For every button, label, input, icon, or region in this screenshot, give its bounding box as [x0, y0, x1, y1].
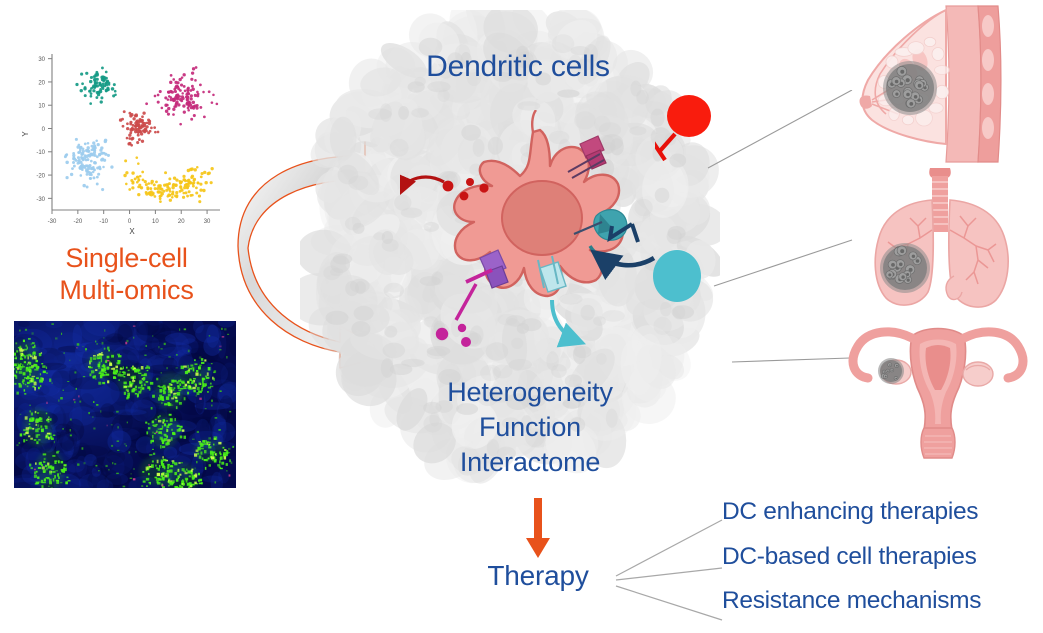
ovary-tumor	[878, 358, 904, 384]
uterus-with-tumor-illustration	[838, 322, 1038, 462]
lung-tumor	[880, 243, 930, 293]
lung-svg	[846, 168, 1038, 323]
svg-text:30: 30	[204, 219, 211, 225]
svg-text:-20: -20	[36, 173, 45, 179]
cell-nucleus	[502, 181, 582, 255]
scatter-series-cluster-yellow	[123, 156, 213, 203]
therapy-outcomes-list: DC enhancing therapies DC-based cell the…	[722, 500, 1042, 614]
connector-lung	[714, 240, 852, 286]
caption-line-2: Multi-omics	[14, 275, 239, 307]
svg-text:10: 10	[38, 104, 45, 110]
lung-with-tumor-illustration	[846, 168, 1038, 323]
connector-outcome-1	[616, 520, 722, 576]
svg-text:20: 20	[38, 80, 45, 86]
connector-uterus	[732, 358, 850, 362]
cyan-immune-cell	[653, 250, 701, 302]
dendrite-top	[532, 110, 536, 132]
svg-text:-30: -30	[48, 219, 57, 225]
therapy-label: Therapy	[463, 560, 613, 592]
term-heterogeneity: Heterogeneity	[400, 375, 660, 410]
fluorescence-svg	[14, 321, 236, 488]
connector-outcome-3	[616, 586, 722, 620]
single-cell-scatter-plot: -30-20-100102030 -30-20-100102030 X Y	[14, 48, 236, 243]
breast-tumor	[883, 61, 937, 115]
scatter-series-cluster-teal	[75, 67, 116, 105]
connector-breast	[708, 90, 852, 168]
breast-svg	[846, 4, 1038, 164]
y-axis-ticks: -30-20-100102030	[36, 57, 52, 203]
svg-text:30: 30	[38, 57, 45, 63]
therapy-outcome-1: DC enhancing therapies	[722, 500, 1042, 525]
caption-line-1: Single-cell	[14, 243, 239, 275]
graphical-abstract-figure: -30-20-100102030 -30-20-100102030 X Y Si…	[0, 0, 1043, 629]
therapy-arrow-shape	[526, 498, 550, 558]
dendritic-cells-label: Dendritic cells	[368, 50, 668, 84]
scatter-series-cluster-lightblue	[64, 138, 114, 191]
svg-text:10: 10	[152, 219, 159, 225]
x-axis-title: X	[129, 227, 135, 236]
scatter-series-cluster-red	[119, 110, 159, 146]
svg-text:20: 20	[178, 219, 185, 225]
red-inhibition-bar	[655, 134, 675, 160]
term-interactome: Interactome	[400, 445, 660, 480]
y-axis-title: Y	[21, 131, 30, 137]
fluorescence-microscopy-image	[14, 321, 236, 488]
chest-wall	[946, 6, 981, 162]
therapy-down-arrow	[523, 498, 553, 560]
svg-text:0: 0	[128, 219, 132, 225]
scatter-plot-svg: -30-20-100102030 -30-20-100102030 X Y	[14, 48, 236, 243]
svg-text:-30: -30	[36, 197, 45, 203]
magenta-secretion-group	[436, 270, 492, 347]
term-function: Function	[400, 410, 660, 445]
trachea-rings	[932, 182, 948, 224]
central-terms-list: Heterogeneity Function Interactome	[400, 375, 660, 480]
nipple	[859, 95, 872, 108]
therapy-outcome-2: DC-based cell therapies	[722, 545, 1042, 570]
scatter-series-cluster-magenta	[145, 66, 218, 125]
cyan-secretion-arrow	[552, 300, 580, 342]
breast-with-tumor-illustration	[846, 4, 1038, 164]
single-cell-multiomics-caption: Single-cell Multi-omics	[14, 243, 239, 307]
therapy-arrow-svg	[523, 498, 553, 560]
scatter-points-group	[64, 66, 218, 203]
svg-text:0: 0	[42, 127, 46, 133]
x-axis-ticks: -30-20-100102030	[48, 210, 211, 225]
svg-text:-10: -10	[99, 219, 108, 225]
uterus-svg	[838, 322, 1038, 462]
connector-outcome-2	[616, 568, 722, 580]
svg-text:-20: -20	[74, 219, 83, 225]
svg-text:-10: -10	[36, 150, 45, 156]
therapy-outcome-3: Resistance mechanisms	[722, 589, 1042, 614]
